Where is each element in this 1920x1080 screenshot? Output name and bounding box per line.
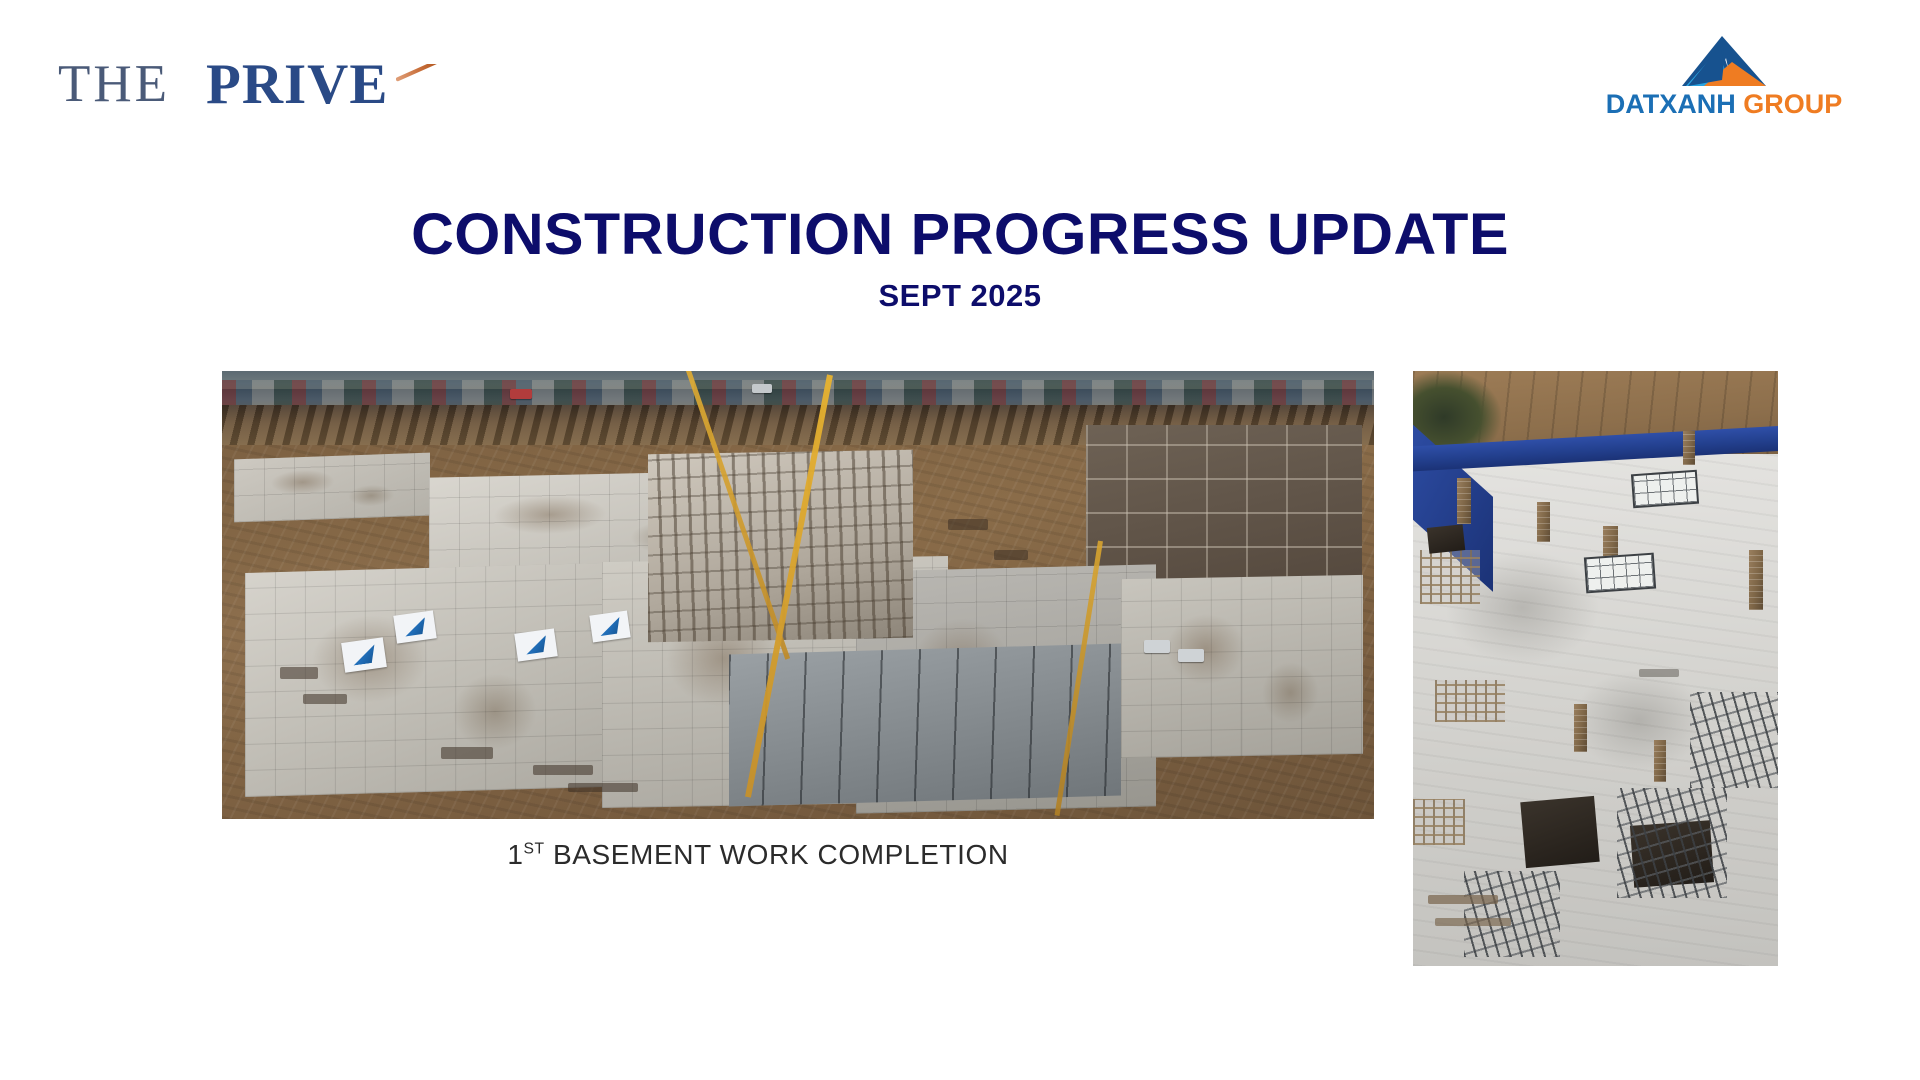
the-prive-logo: THE PRIVE [58,48,398,124]
slide-canvas: THE PRIVE DATXANH GROUP CONSTRUCTION PRO… [0,0,1920,1080]
datxanh-word-primary: DATXANH [1606,89,1736,119]
caption-prefix: 1 [507,839,523,870]
datxanh-wordmark: DATXANH GROUP [1604,88,1844,120]
datxanh-triangle-icon [1670,36,1774,88]
datxanh-group-logo: DATXANH GROUP [1604,36,1844,126]
page-subtitle: SEPT 2025 [0,279,1920,313]
logo-baseline-divider [60,120,372,121]
photo-aerial-wide [222,371,1374,819]
logo-word-prive: PRIVE [206,56,388,113]
photo-basement-closeup [1413,371,1778,966]
logo-word-the: THE [58,58,170,111]
caption-ordinal: ST [524,841,545,858]
caption-text: BASEMENT WORK COMPLETION [545,839,1009,870]
logo-accent-icon [396,64,440,86]
datxanh-word-secondary: GROUP [1743,89,1842,119]
page-title: CONSTRUCTION PROGRESS UPDATE [0,205,1920,266]
photo-caption: 1ST BASEMENT WORK COMPLETION [182,838,1334,872]
